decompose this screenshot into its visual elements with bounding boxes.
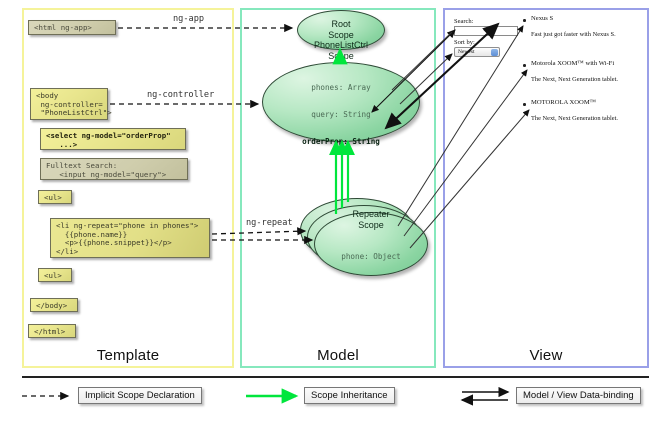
view-phone-snippet: The Next, Next Generation tablet. [531,115,618,122]
template-box-body-tag: <body ng-controller= "PhoneListCtrl"> [30,88,108,120]
view-sort-label: Sort by: [454,39,475,46]
view-search-label: Search: [454,18,474,25]
legend-separator [22,376,649,378]
scope-repeater-title-1: Repeater [352,209,389,220]
view-phone-snippet: The Next, Next Generation tablet. [531,76,618,83]
label-ng-controller: ng-controller [145,90,216,100]
template-box-ul-close-tag: <ul> [38,268,72,282]
scope-plc-props: phones: Array query: String orderProp: S… [302,65,380,164]
legend-item-implicit-scope-declaration: Implicit Scope Declaration [78,387,202,404]
template-box-li-repeat-tag: <li ng-repeat="phone in phones"> {{phone… [50,218,210,258]
column-label-view: View [445,347,647,364]
column-label-template: Template [24,347,232,364]
legend-item-model-view-data-binding: Model / View Data-binding [516,387,641,404]
view-sort-selected-value: Newest [458,49,475,55]
template-box-html-close-tag: </html> [28,324,76,338]
label-ng-repeat: ng-repeat [244,218,295,228]
legend-item-scope-inheritance: Scope Inheritance [304,387,395,404]
scope-root-title-1: Root [331,19,350,30]
chevron-down-icon [491,49,498,56]
view-list-bullet [523,19,526,22]
view-phone-name[interactable]: Nexus S [531,15,553,22]
scope-repeater-props: phone: Object [341,234,400,279]
legend: Implicit Scope Declaration Scope Inherit… [22,382,649,418]
scope-plc-title-1: PhoneListCtrl [314,40,368,51]
scope-phonelistctrl-scope: PhoneListCtrl Scope phones: Array query:… [262,62,420,142]
scope-plc-prop-orderprop: orderProp: String [302,137,380,146]
view-list-bullet [523,64,526,67]
template-box-select-tag: <select ng-model="orderProp" ...> [40,128,186,150]
label-ng-app: ng-app [171,14,206,24]
column-label-model: Model [242,347,434,364]
view-phone-name[interactable]: Motorola XOOM™ with Wi-Fi [531,60,614,67]
view-search-input[interactable] [454,26,518,36]
column-template: Template [22,8,234,368]
scope-plc-prop-phones: phones: Array [302,83,380,92]
template-box-html-tag: <html ng-app> [28,20,116,35]
view-sort-select[interactable]: Newest [454,47,500,57]
scope-repeater-title-2: Scope [358,220,384,231]
view-phone-snippet: Fast just got faster with Nexus S. [531,31,616,38]
view-phone-name[interactable]: MOTOROLA XOOM™ [531,99,596,106]
template-box-search-input-tag: Fulltext Search: <input ng-model="query"… [40,158,188,180]
scope-plc-title-2: Scope [328,51,354,62]
scope-plc-prop-query: query: String [302,110,380,119]
scope-repeater-scope: Repeater Scope phone: Object [314,212,428,276]
diagram-canvas: Template Model View <html ng-app> <body … [0,0,661,425]
template-box-body-close-tag: </body> [30,298,78,312]
template-box-ul-open-tag: <ul> [38,190,72,204]
view-list-bullet [523,103,526,106]
scope-repeater-prop-phone: phone: Object [341,252,400,261]
